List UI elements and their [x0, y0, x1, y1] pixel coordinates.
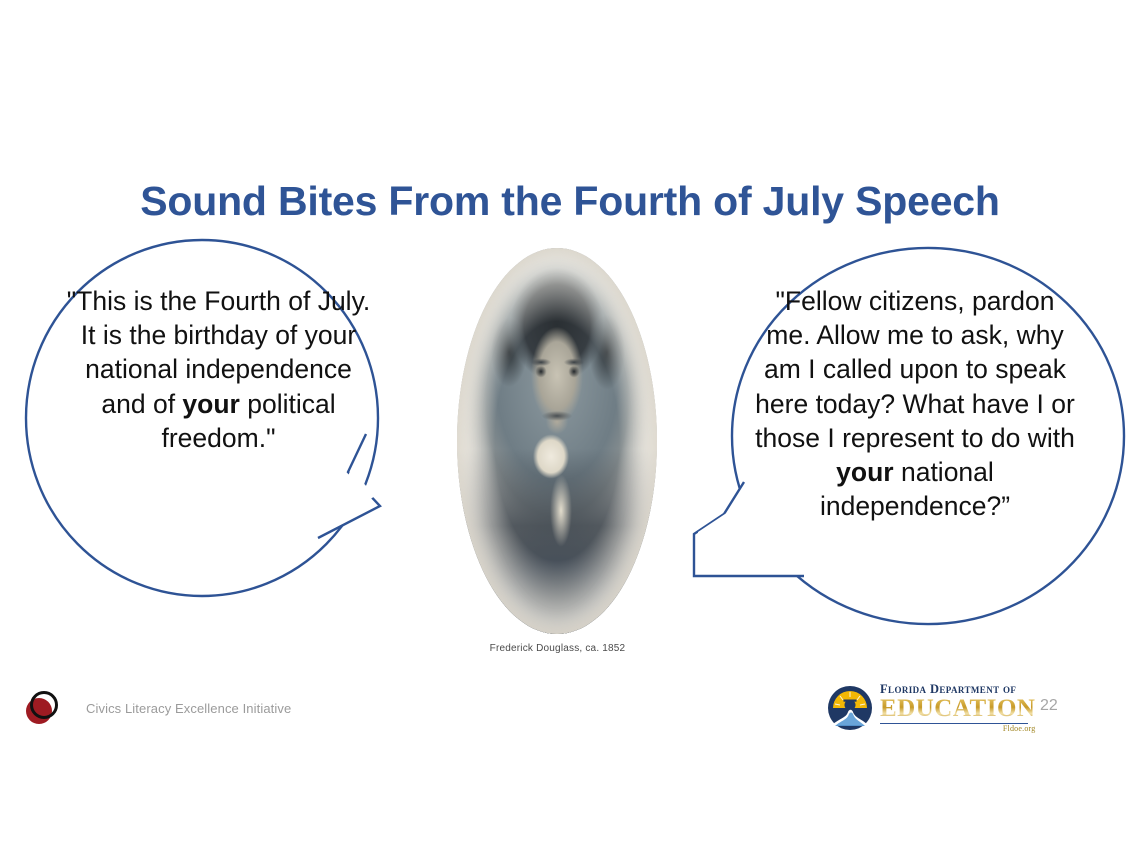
quote-right-emphasis: your	[836, 457, 893, 487]
frederick-douglass-portrait-image	[457, 248, 657, 634]
quote-left-emphasis: your	[182, 389, 239, 419]
footer-right: Florida Department of EDUCATION Fldoe.or…	[826, 684, 1035, 732]
portrait-figure: Frederick Douglass, ca. 1852	[450, 248, 665, 660]
slide-canvas: Sound Bites From the Fourth of July Spee…	[0, 0, 1140, 856]
quote-right-part1: "Fellow citizens, pardon me. Allow me to…	[755, 286, 1075, 453]
footer-left: Civics Literacy Excellence Initiative	[22, 688, 291, 728]
portrait-caption: Frederick Douglass, ca. 1852	[450, 643, 665, 654]
speech-bubble-right-text: "Fellow citizens, pardon me. Allow me to…	[750, 284, 1080, 523]
speech-bubble-left: "This is the Fourth of July. It is the b…	[18, 236, 418, 606]
footer-left-label: Civics Literacy Excellence Initiative	[86, 701, 291, 716]
page-number: 22	[1040, 697, 1058, 715]
florida-department-of-education-seal-icon	[826, 685, 874, 731]
page-title: Sound Bites From the Fourth of July Spee…	[0, 178, 1140, 225]
speech-bubble-left-text: "This is the Fourth of July. It is the b…	[66, 284, 371, 455]
civics-literacy-circle-logo-icon	[22, 689, 62, 727]
fdoe-line3: Fldoe.org	[1003, 725, 1036, 733]
fdoe-wordmark: Florida Department of EDUCATION Fldoe.or…	[880, 683, 1035, 734]
speech-bubble-right: "Fellow citizens, pardon me. Allow me to…	[692, 246, 1128, 638]
fdoe-line1: Florida Department of	[880, 683, 1016, 696]
fdoe-line2: EDUCATION	[880, 696, 1035, 721]
